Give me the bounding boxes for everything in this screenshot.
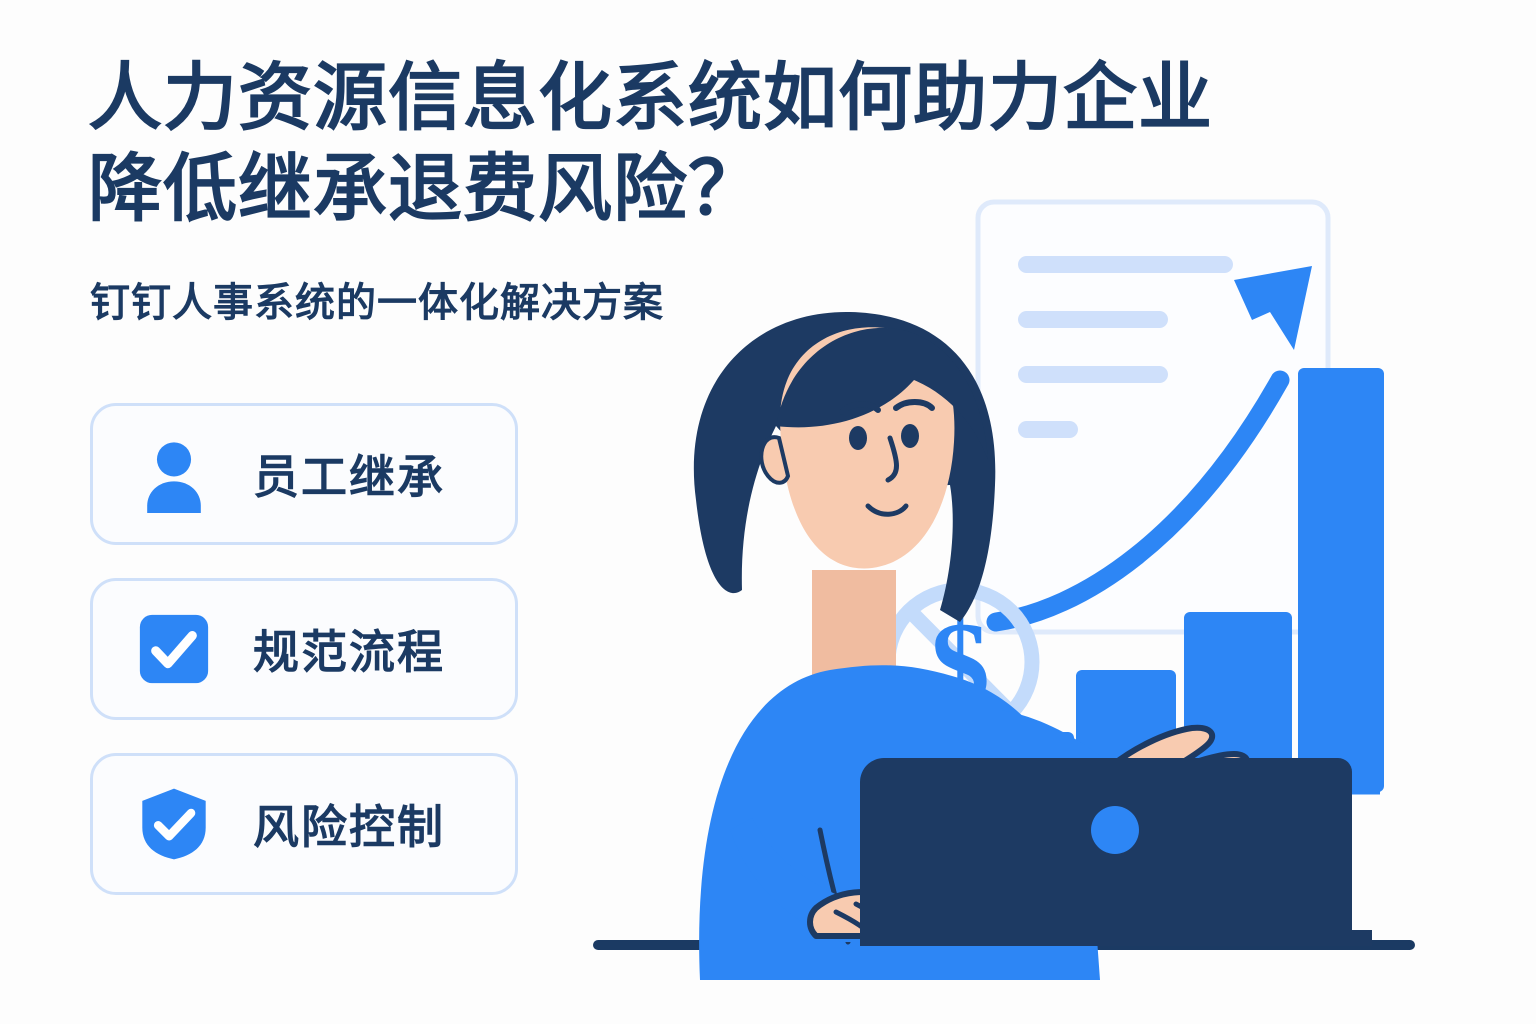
feature-list: 员工继承 规范流程 风险控制 xyxy=(90,403,518,928)
laptop-logo xyxy=(1091,806,1139,854)
eye-left xyxy=(849,426,867,450)
shield-check-icon xyxy=(135,785,213,863)
laptop-icon xyxy=(860,758,1372,946)
feature-card-employee-succession[interactable]: 员工继承 xyxy=(90,403,518,545)
headline-line-1: 人力资源信息化系统如何助力企业 xyxy=(88,52,1408,143)
feature-card-standard-process[interactable]: 规范流程 xyxy=(90,578,518,720)
eye-right xyxy=(901,424,919,448)
check-square-icon xyxy=(135,610,213,688)
document-card xyxy=(978,202,1328,632)
page-subtitle: 钉钉人事系统的一体化解决方案 xyxy=(90,270,664,328)
hero-illustration: $ xyxy=(580,170,1480,980)
feature-label: 风险控制 xyxy=(253,791,445,857)
user-icon xyxy=(135,435,213,513)
chart-bar xyxy=(1298,368,1384,792)
feature-card-risk-control[interactable]: 风险控制 xyxy=(90,753,518,895)
feature-label: 员工继承 xyxy=(253,441,445,507)
feature-label: 规范流程 xyxy=(253,616,445,682)
